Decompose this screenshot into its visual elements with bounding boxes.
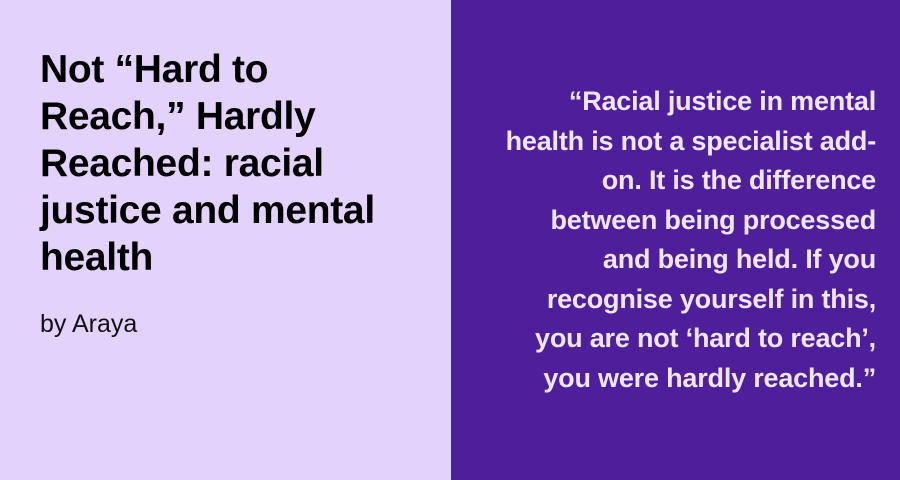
author-byline: by Araya [40,309,137,339]
title-panel: Not “Hard to Reach,” Hardly Reached: rac… [0,0,451,480]
pull-quote: “Racial justice in mental health is not … [504,82,876,398]
article-header-card: Not “Hard to Reach,” Hardly Reached: rac… [0,0,900,480]
quote-panel: “Racial justice in mental health is not … [451,0,900,480]
page-title: Not “Hard to Reach,” Hardly Reached: rac… [40,46,400,281]
